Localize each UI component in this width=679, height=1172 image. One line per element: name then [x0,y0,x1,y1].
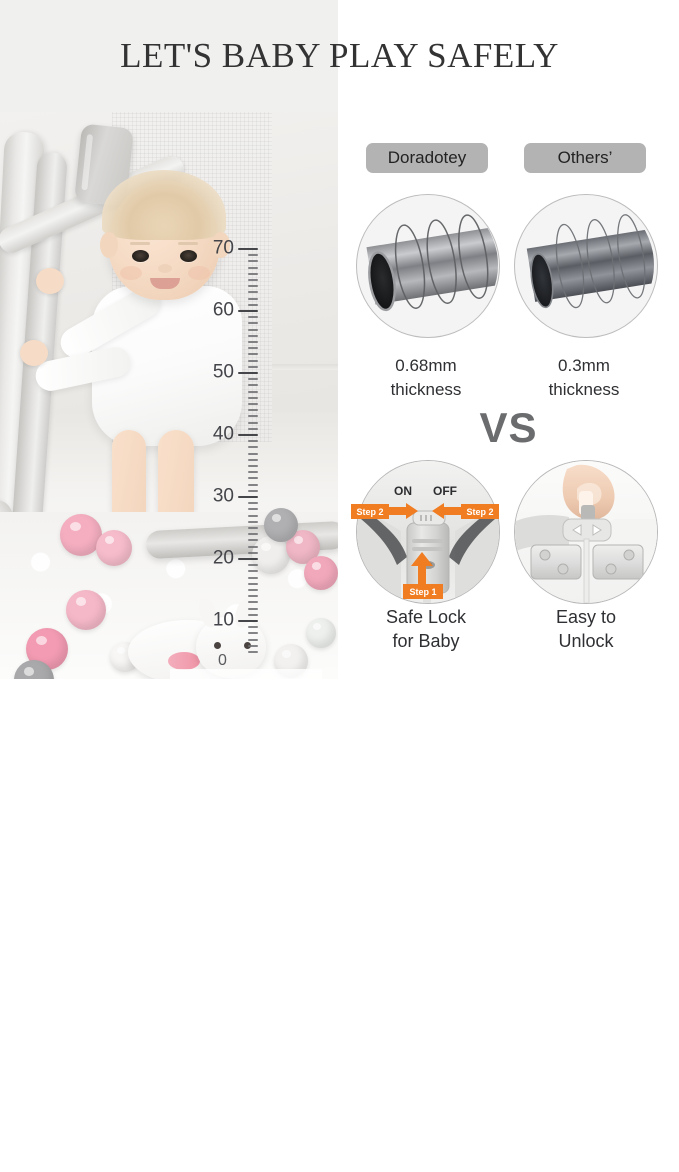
ruler-tick-minor [248,397,258,399]
ruler-tick-minor [248,508,258,510]
easy-unlock-illustration [506,456,662,612]
ruler-tick-minor [248,384,258,386]
easy-unlock-caption-line1: Easy to [506,605,666,629]
ruler-zero-label: 0 [218,652,227,670]
brand-pill-label: Doradotey [388,148,466,168]
ruler-tick-major [238,496,258,498]
step1-label: Step 1 [409,587,436,597]
brand-tube-illustration [348,188,504,344]
page-title: LET'S BABY PLAY SAFELY [0,36,679,76]
ruler-tick-minor [248,378,258,380]
ruler-tick-minor [248,267,258,269]
ruler-tick-minor [248,347,258,349]
vs-separator: VS [338,404,679,452]
ruler-tick-minor [248,546,258,548]
ruler-tick-minor [248,273,258,275]
ruler-tick-minor [248,298,258,300]
play-ball [304,556,338,590]
play-ball [264,508,298,542]
ruler-tick-minor [248,490,258,492]
step2-left-badge: Step 2 [351,504,389,519]
ruler-tick-minor [248,570,258,572]
ruler-tick-minor [248,391,258,393]
ruler-tick-minor [248,360,258,362]
baby-hand-lower [20,340,48,366]
ruler-tick-minor [248,316,258,318]
ruler-tick-minor [248,651,258,653]
ruler-tick-minor [248,329,258,331]
ruler-tick-minor [248,471,258,473]
comparison-panel: Doradotey Others’ [338,112,679,679]
baby-hand-upper [36,268,64,294]
step2-right-label: Step 2 [466,507,493,517]
ruler-tick-minor [248,533,258,535]
ruler-label: 10 [213,611,234,630]
ruler-tick-minor [248,465,258,467]
ruler-tick-minor [248,291,258,293]
ruler-tick-major [238,558,258,560]
ruler-tick-minor [248,502,258,504]
ruler-tick-strip [238,224,258,664]
title-band: LET'S BABY PLAY SAFELY [0,0,679,112]
ruler-tick-minor [248,577,258,579]
safe-lock-illustration: ON OFF Step 2 Step 2 Step 1 [348,456,504,612]
ruler-tick-minor [248,446,258,448]
ruler-tick-minor [248,341,258,343]
ruler-tick-minor [248,285,258,287]
lifestyle-photo: 70605040302010 0 Safe Height 26.77in/68c… [0,112,338,679]
ruler-tick-minor [248,453,258,455]
ruler-tick-minor [248,601,258,603]
step1-arrow-icon [411,552,433,588]
ruler-tick-minor [248,614,258,616]
ruler-label: 40 [213,425,234,444]
ruler-tick-minor [248,626,258,628]
ruler-tick-major [238,372,258,374]
others-tube-illustration [506,188,662,344]
play-ball [306,618,336,648]
ruler-label: 70 [213,239,234,258]
brand-thickness-value: 0.68mm [348,354,504,378]
infographic-root: LET'S BABY PLAY SAFELY [0,0,679,679]
ruler-label: 30 [213,487,234,506]
brand-thickness-label: thickness [348,378,504,402]
ruler-tick-minor [248,515,258,517]
ruler-tick-minor [248,409,258,411]
others-pill-label: Others’ [558,148,613,168]
safe-lock-caption-line1: Safe Lock [346,605,506,629]
play-ball [66,590,106,630]
ruler-tick-minor [248,645,258,647]
ruler-tick-minor [248,583,258,585]
ruler-tick-major [238,310,258,312]
lock-off-label: OFF [433,484,457,498]
safe-lock-caption: Safe Lock for Baby [346,605,506,654]
step1-badge: Step 1 [403,584,443,599]
ruler-tick-minor [248,260,258,262]
ruler-tick-minor [248,415,258,417]
ruler-tick-minor [248,366,258,368]
ruler-tick-minor [248,254,258,256]
ruler-tick-major [238,620,258,622]
ruler-tick-minor [248,322,258,324]
step2-left-label: Step 2 [356,507,383,517]
ruler-tick-minor [248,589,258,591]
baby-cheek-left [120,266,142,280]
ruler-tick-minor [248,477,258,479]
ruler-tick-minor [248,539,258,541]
baby-brow-right [178,242,198,245]
ruler-tick-minor [248,521,258,523]
ruler-tick-minor [248,279,258,281]
easy-unlock-caption: Easy to Unlock [506,605,666,1172]
safe-height-callout: Safe Height 26.77in/68cm [170,669,322,679]
others-thickness-label: thickness [506,378,662,402]
lock-on-label: ON [394,484,412,498]
ruler-label: 20 [213,549,234,568]
step2-left-arrow-icon [388,503,418,519]
ruler-tick-minor [248,608,258,610]
others-tube-svg [506,188,662,344]
baby-nose [158,264,172,273]
brand-thickness-text: 0.68mm thickness [348,354,504,402]
baby-ear-left [100,232,118,258]
ruler-tick-major [238,248,258,250]
others-pill: Others’ [524,143,646,173]
ruler-tick-minor [248,428,258,430]
baby-eye-left [132,250,149,262]
ruler-tick-minor [248,304,258,306]
ruler-tick-minor [248,632,258,634]
step2-right-arrow-icon [432,503,462,519]
play-ball [96,530,132,566]
brand-pill: Doradotey [366,143,488,173]
ruler-tick-minor [248,639,258,641]
ruler-tick-minor [248,440,258,442]
easy-unlock-svg [515,461,657,603]
baby-brow-left [130,242,150,245]
ruler-tick-minor [248,527,258,529]
others-thickness-value: 0.3mm [506,354,662,378]
ruler-tick-minor [248,353,258,355]
safe-lock-caption-line2: for Baby [346,629,506,653]
ruler-tick-minor [248,459,258,461]
ruler-tick-minor [248,335,258,337]
ruler-tick-minor [248,564,258,566]
ruler-tick-minor [248,422,258,424]
ruler-tick-minor [248,552,258,554]
ruler-tick-minor [248,595,258,597]
ruler-label: 60 [213,301,234,320]
baby-eye-right [180,250,197,262]
easy-unlock-circle [514,460,658,604]
ruler-label: 50 [213,363,234,382]
ruler-tick-major [238,434,258,436]
step2-right-badge: Step 2 [461,504,499,519]
ruler-tick-minor [248,403,258,405]
brand-tube-svg [348,188,504,344]
ruler-tick-minor [248,484,258,486]
easy-unlock-caption-line2: Unlock [506,629,666,653]
height-ruler: 70605040302010 [196,224,258,664]
